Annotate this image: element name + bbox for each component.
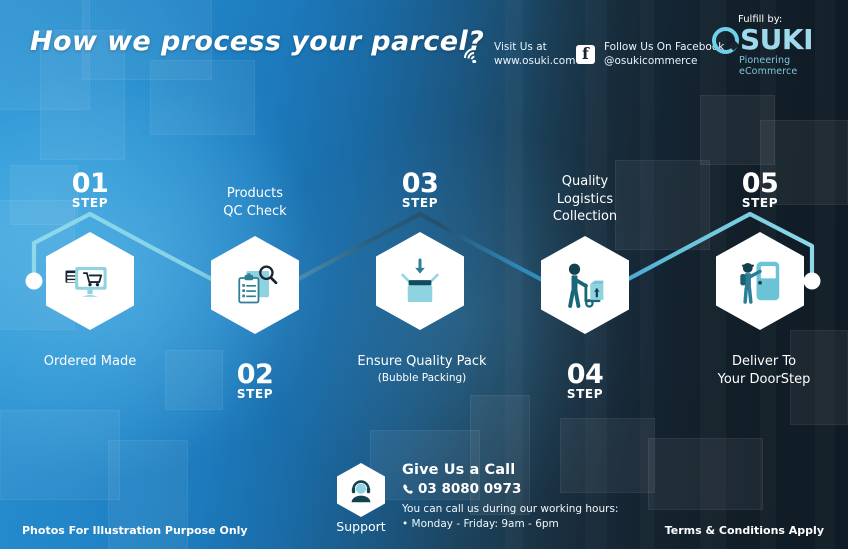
- page-title: How we process your parcel?: [30, 26, 484, 57]
- step-03-number: 03: [390, 170, 450, 197]
- step-04-caption-line2: Logistics: [557, 192, 613, 207]
- step-05-caption: Deliver To Your DoorStep: [690, 353, 838, 388]
- handtruck-person-icon: [557, 257, 613, 313]
- step-04-caption: Quality Logistics Collection: [524, 173, 646, 226]
- step-number-03: 03 STEP: [390, 170, 450, 210]
- step-04-number: 04: [555, 361, 615, 388]
- logo-name: SUKI: [740, 26, 813, 54]
- visit-us-url: www.osuki.com: [494, 55, 575, 67]
- logo-tagline: Pioneering eCommerce: [739, 55, 826, 77]
- footer-left-note: Photos For Illustration Purpose Only: [22, 524, 248, 537]
- wifi-icon: [463, 46, 485, 63]
- support-block: Support: [330, 463, 392, 534]
- visit-us-line1: Visit Us at: [494, 41, 547, 53]
- call-phone-number: 03 8080 0973: [418, 481, 521, 497]
- step-number-02: 02 STEP: [225, 361, 285, 401]
- call-hours: You can call us during our working hours…: [402, 502, 618, 532]
- call-block: Give Us a Call 03 8080 0973 You can call…: [402, 462, 618, 532]
- step-01-caption-text: Ordered Made: [44, 354, 136, 369]
- support-hexagon[interactable]: [337, 463, 385, 517]
- infographic-poster: How we process your parcel? Visit Us at …: [0, 0, 848, 549]
- step-01-caption: Ordered Made: [20, 353, 160, 371]
- step-04-caption-line3: Collection: [553, 209, 617, 224]
- step-number-01: 01 STEP: [60, 170, 120, 210]
- step-03-subcaption: (Bubble Packing): [340, 371, 504, 385]
- step-02-caption: Products QC Check: [190, 185, 320, 220]
- step-number-05: 05 STEP: [730, 170, 790, 210]
- call-hours-line1: You can call us during our working hours…: [402, 503, 618, 515]
- step-05-number: 05: [730, 170, 790, 197]
- open-box-arrow-icon: [392, 253, 448, 309]
- step-03-caption-text: Ensure Quality Pack: [357, 354, 486, 369]
- headset-person-icon: [346, 475, 376, 505]
- call-number-row[interactable]: 03 8080 0973: [402, 481, 618, 497]
- decorative-band: [640, 0, 654, 549]
- footer-right-note: Terms & Conditions Apply: [665, 524, 824, 537]
- door-delivery-icon: [732, 253, 788, 309]
- step-04-caption-line1: Quality: [562, 174, 608, 189]
- decorative-band: [815, 0, 835, 549]
- step-01-number: 01: [60, 170, 120, 197]
- call-hours-line2: • Monday - Friday: 9am - 6pm: [402, 518, 559, 530]
- clipboard-magnifier-icon: [227, 257, 283, 313]
- logo-o-icon: [712, 27, 739, 54]
- step-02-caption-line1: Products: [227, 186, 283, 201]
- step-03-caption: Ensure Quality Pack (Bubble Packing): [340, 353, 504, 385]
- step-number-04: 04 STEP: [555, 361, 615, 401]
- step-04-label: STEP: [555, 387, 615, 401]
- step-05-caption-line2: Your DoorStep: [718, 372, 811, 387]
- call-title: Give Us a Call: [402, 462, 618, 478]
- visit-us-block[interactable]: Visit Us at www.osuki.com: [463, 41, 575, 69]
- visit-us-text: Visit Us at www.osuki.com: [494, 41, 575, 69]
- step-03-label: STEP: [390, 196, 450, 210]
- step-01-label: STEP: [60, 196, 120, 210]
- step-02-number: 02: [225, 361, 285, 388]
- decorative-square: [0, 410, 120, 500]
- step-02-caption-line2: QC Check: [223, 204, 286, 219]
- step-02-label: STEP: [225, 387, 285, 401]
- step-05-caption-line1: Deliver To: [732, 354, 796, 369]
- brand-logo: Fulfill by: SUKI Pioneering eCommerce: [712, 14, 826, 77]
- decorative-square: [165, 350, 223, 410]
- decorative-square: [150, 60, 255, 135]
- facebook-handle: @osukicommerce: [604, 55, 697, 67]
- phone-icon: [402, 483, 414, 495]
- facebook-line1: Follow Us On Facebook: [604, 41, 724, 53]
- facebook-text: Follow Us On Facebook @osukicommerce: [604, 41, 724, 69]
- facebook-icon: f: [576, 45, 595, 64]
- logo-row: SUKI: [712, 26, 826, 54]
- monitor-cart-icon: [62, 253, 118, 309]
- step-05-label: STEP: [730, 196, 790, 210]
- support-label: Support: [330, 519, 392, 534]
- facebook-block[interactable]: f Follow Us On Facebook @osukicommerce: [576, 41, 724, 69]
